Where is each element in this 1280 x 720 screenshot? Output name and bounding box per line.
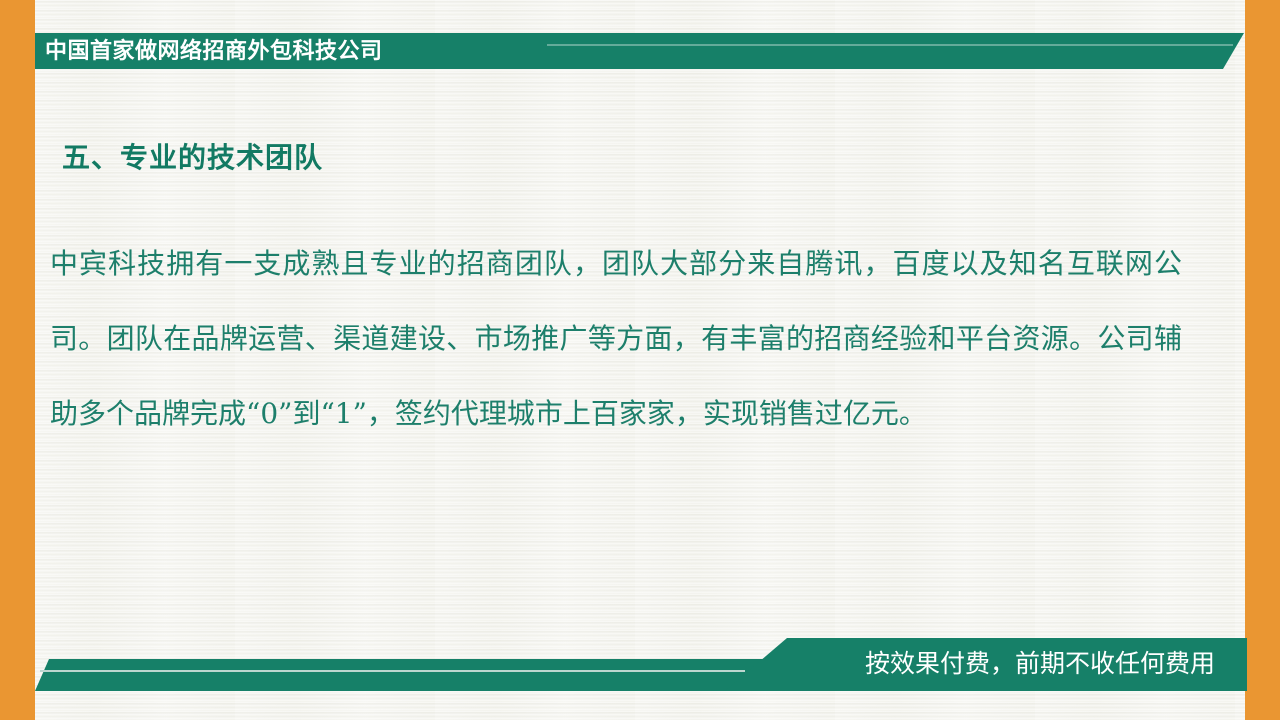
footer-slogan: 按效果付费，前期不收任何费用 (865, 642, 1215, 686)
footer-divider-line (40, 670, 745, 672)
header-title: 中国首家做网络招商外包科技公司 (45, 33, 383, 69)
section-paragraph: 中宾科技拥有一支成熟且专业的招商团队，团队大部分来自腾讯，百度以及知名互联网公司… (50, 226, 1182, 451)
header-divider-line (547, 44, 1233, 46)
section-heading: 五、专业的技术团队 (62, 136, 323, 176)
slide-canvas: 中国首家做网络招商外包科技公司 五、专业的技术团队 中宾科技拥有一支成熟且专业的… (0, 0, 1280, 720)
